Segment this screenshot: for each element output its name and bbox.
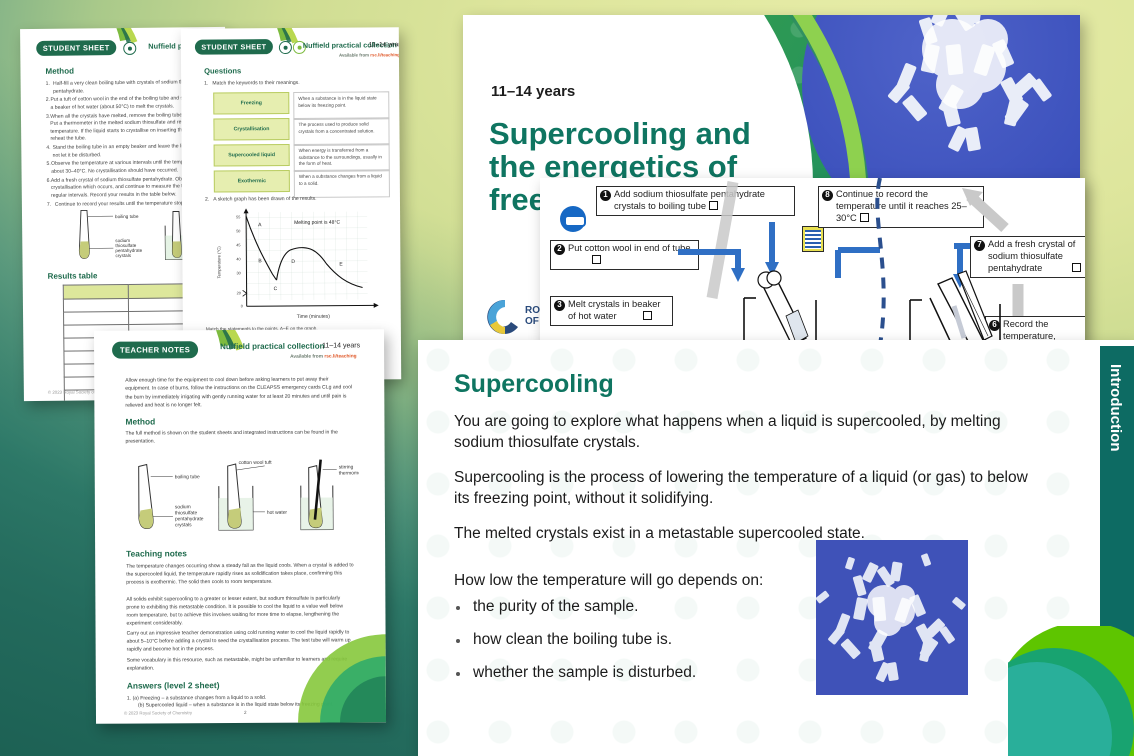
svg-text:Temperature (°C): Temperature (°C) [216,246,221,279]
doc-subheader-prefix: Available from [339,52,369,57]
svg-text:crystals: crystals [115,253,131,258]
instructions-flow-slide[interactable]: 1 Add sodium thiosulfate pentahydrate cr… [540,178,1085,345]
teaching-paragraph: The temperature changes occurring show a… [126,561,354,587]
svg-text:50: 50 [236,229,240,233]
slide-age-range: 11–14 years [491,83,575,100]
doc-footer: © 2023 Royal Society of Chemistry [124,710,192,715]
svg-text:Time (minutes): Time (minutes) [297,314,331,320]
doc-header: Nuffield practical collection [220,342,325,352]
doc-header-age: 11–14 years [369,41,401,48]
method-heading: Method [125,416,155,426]
svg-text:40: 40 [236,257,240,261]
svg-text:hot water: hot water [267,510,288,516]
svg-text:pentahydrate: pentahydrate [175,516,204,522]
doc-header-age: 11–14 years [322,342,360,349]
svg-text:20: 20 [237,291,241,295]
teacher-notes-document[interactable]: TEACHER NOTES Nuffield practical collect… [94,329,386,724]
svg-text:45: 45 [236,243,240,247]
section-tab-label: Introduction [1107,364,1124,451]
keyword-box[interactable]: Freezing [213,92,289,115]
list-intro: How low the temperature will go depends … [454,572,763,590]
bullet-marker [456,639,460,643]
page-number: 2 [244,710,247,715]
questions-heading: Questions [204,66,241,75]
intro-paragraph: Supercooling is the process of lowering … [454,468,1044,509]
svg-text:cotton wool tuft: cotton wool tuft [239,460,273,466]
svg-text:boiling tube: boiling tube [175,474,200,480]
flow-arrows [540,178,1085,345]
student-sheet-2-document[interactable]: STUDENT SHEET Nuffield practical collect… [181,27,401,381]
intro-paragraph: You are going to explore what happens wh… [454,412,1044,453]
level-dot-icon [279,41,292,54]
screenshot-stage: STUDENT SHEET Nuffield practical collect… [0,0,1134,756]
doc-subheader-prefix: Available from [290,355,323,360]
keyword-box[interactable]: Exothermic [214,170,290,193]
decorative-corner [1008,626,1134,756]
student-sheet-badge: STUDENT SHEET [36,40,116,56]
bullet-marker [456,606,460,610]
cooling-curve-graph: A B C D E Melting point is 48°C Temperat… [214,205,385,324]
svg-text:crystals: crystals [175,522,192,528]
svg-text:D: D [291,259,295,265]
apparatus-diagram: boiling tube sodium thiosulfate pentahyd… [123,457,359,540]
sodium-thiosulfate-crystals-photo [816,540,968,695]
question-2-text: 2.A sketch graph has been drawn of the r… [205,196,317,203]
svg-text:thermometer: thermometer [339,470,359,476]
results-table-heading: Results table [48,271,98,281]
keyword-box[interactable]: Crystallisation [213,118,289,141]
meaning-box[interactable]: When energy is transferred from a substa… [294,143,390,172]
svg-text:Melting point is 48°C: Melting point is 48°C [294,220,340,226]
bullet-item: whether the sample is disturbed. [473,664,696,682]
keyword-box[interactable]: Supercooled liquid [214,144,290,167]
supercooling-intro-slide[interactable]: Supercooling You are going to explore wh… [418,340,1134,756]
svg-text:boiling tube: boiling tube [115,214,139,219]
doc-subheader-link[interactable]: rsc.li/teaching [324,354,356,359]
bullet-item: the purity of the sample. [473,598,638,616]
safety-paragraph: Allow enough time for the equipment to c… [125,375,353,409]
level-dot-icon [123,42,136,55]
svg-text:0: 0 [241,304,243,308]
svg-text:sodium: sodium [175,504,191,510]
crystal-pile-illustration [816,540,968,695]
method-heading: Method [45,67,74,76]
svg-text:stirring: stirring [339,464,354,470]
teacher-notes-badge: TEACHER NOTES [112,341,198,358]
svg-text:55: 55 [236,215,240,219]
doc-subheader-link[interactable]: rsc.li/teaching [370,52,400,57]
svg-text:C: C [274,286,278,292]
meaning-box[interactable]: When a substance is in the liquid state … [293,91,389,120]
student-sheet-badge: STUDENT SHEET [195,39,273,55]
svg-text:thiosulfate: thiosulfate [175,510,198,516]
teaching-notes-heading: Teaching notes [126,548,187,558]
meaning-box[interactable]: The process used to produce solid crysta… [293,117,389,146]
decorative-corner [273,610,386,723]
bullet-marker [456,672,460,676]
rsc-logo [485,297,525,337]
doc-subheader: Available from rsc.li/teaching [290,354,357,359]
method-paragraph: The full method is shown on the student … [125,428,353,446]
bullet-item: how clean the boiling tube is. [473,631,672,649]
slide-heading: Supercooling [454,370,614,399]
answers-heading: Answers (level 2 sheet) [127,680,220,690]
svg-text:30: 30 [236,271,240,275]
doc-subheader: Available from rsc.li/teaching [339,52,400,57]
question-1-text: 1.Match the keywords to their meanings. [204,80,299,87]
meaning-box[interactable]: When a substance changes from a liquid t… [294,169,390,198]
